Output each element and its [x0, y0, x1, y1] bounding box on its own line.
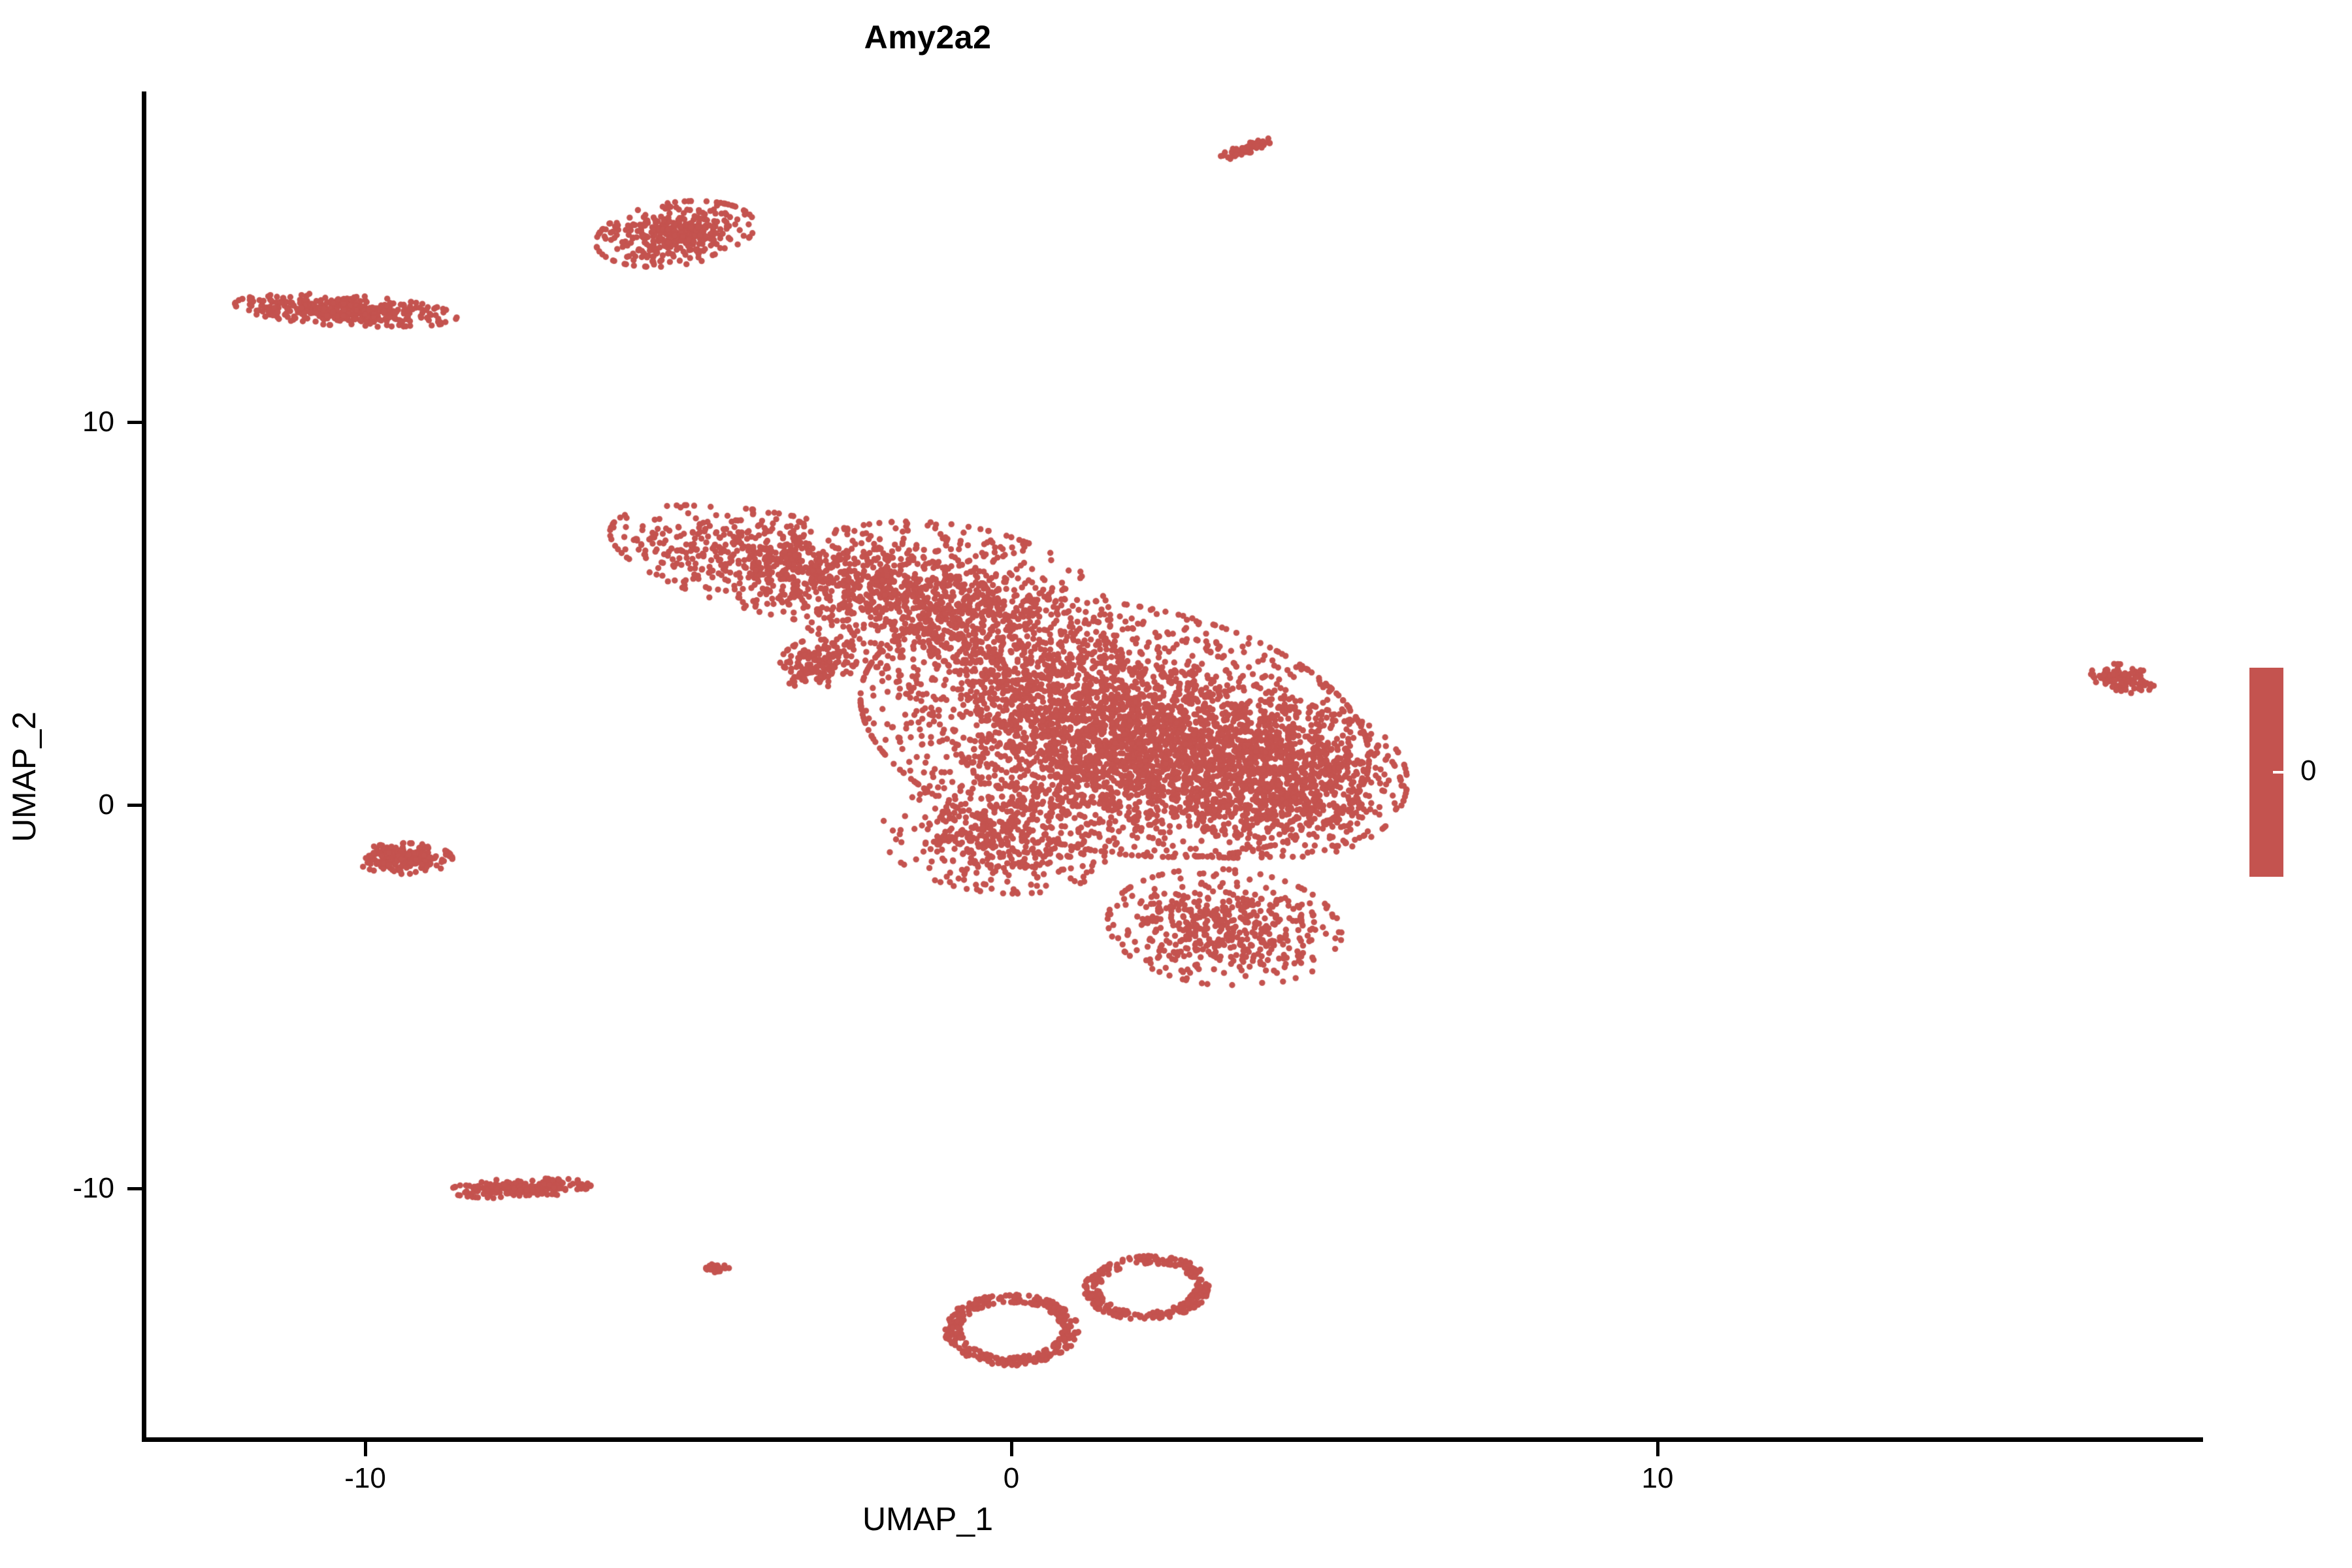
- y-tick-label: 10: [82, 406, 114, 438]
- legend-tick-label: 0: [2300, 755, 2316, 787]
- y-tick-mark: [127, 804, 142, 807]
- scatter-canvas[interactable]: [144, 91, 2203, 1439]
- x-axis-label: UMAP_1: [0, 1500, 2104, 1538]
- x-tick-label: -10: [344, 1462, 386, 1495]
- legend-tick-mark: [2273, 771, 2283, 774]
- legend-colorbar[interactable]: 0: [2249, 668, 2352, 877]
- y-tick-label: 0: [99, 789, 114, 821]
- plot-panel[interactable]: [144, 91, 2203, 1439]
- feature-plot: Amy2a2 -10010-10010 UMAP_1 UMAP_2 0: [0, 0, 2352, 1568]
- y-tick-label: -10: [73, 1172, 114, 1205]
- x-tick-mark: [1010, 1442, 1013, 1456]
- y-axis-line: [142, 91, 146, 1442]
- x-axis-line: [142, 1437, 2203, 1442]
- x-tick-mark: [364, 1442, 367, 1456]
- y-tick-mark: [127, 421, 142, 424]
- x-tick-mark: [1656, 1442, 1659, 1456]
- x-tick-label: 0: [1004, 1462, 1019, 1495]
- y-tick-mark: [127, 1187, 142, 1190]
- y-axis-label: UMAP_2: [5, 672, 43, 881]
- x-tick-label: 10: [1642, 1462, 1674, 1495]
- page-title: Amy2a2: [0, 18, 2104, 56]
